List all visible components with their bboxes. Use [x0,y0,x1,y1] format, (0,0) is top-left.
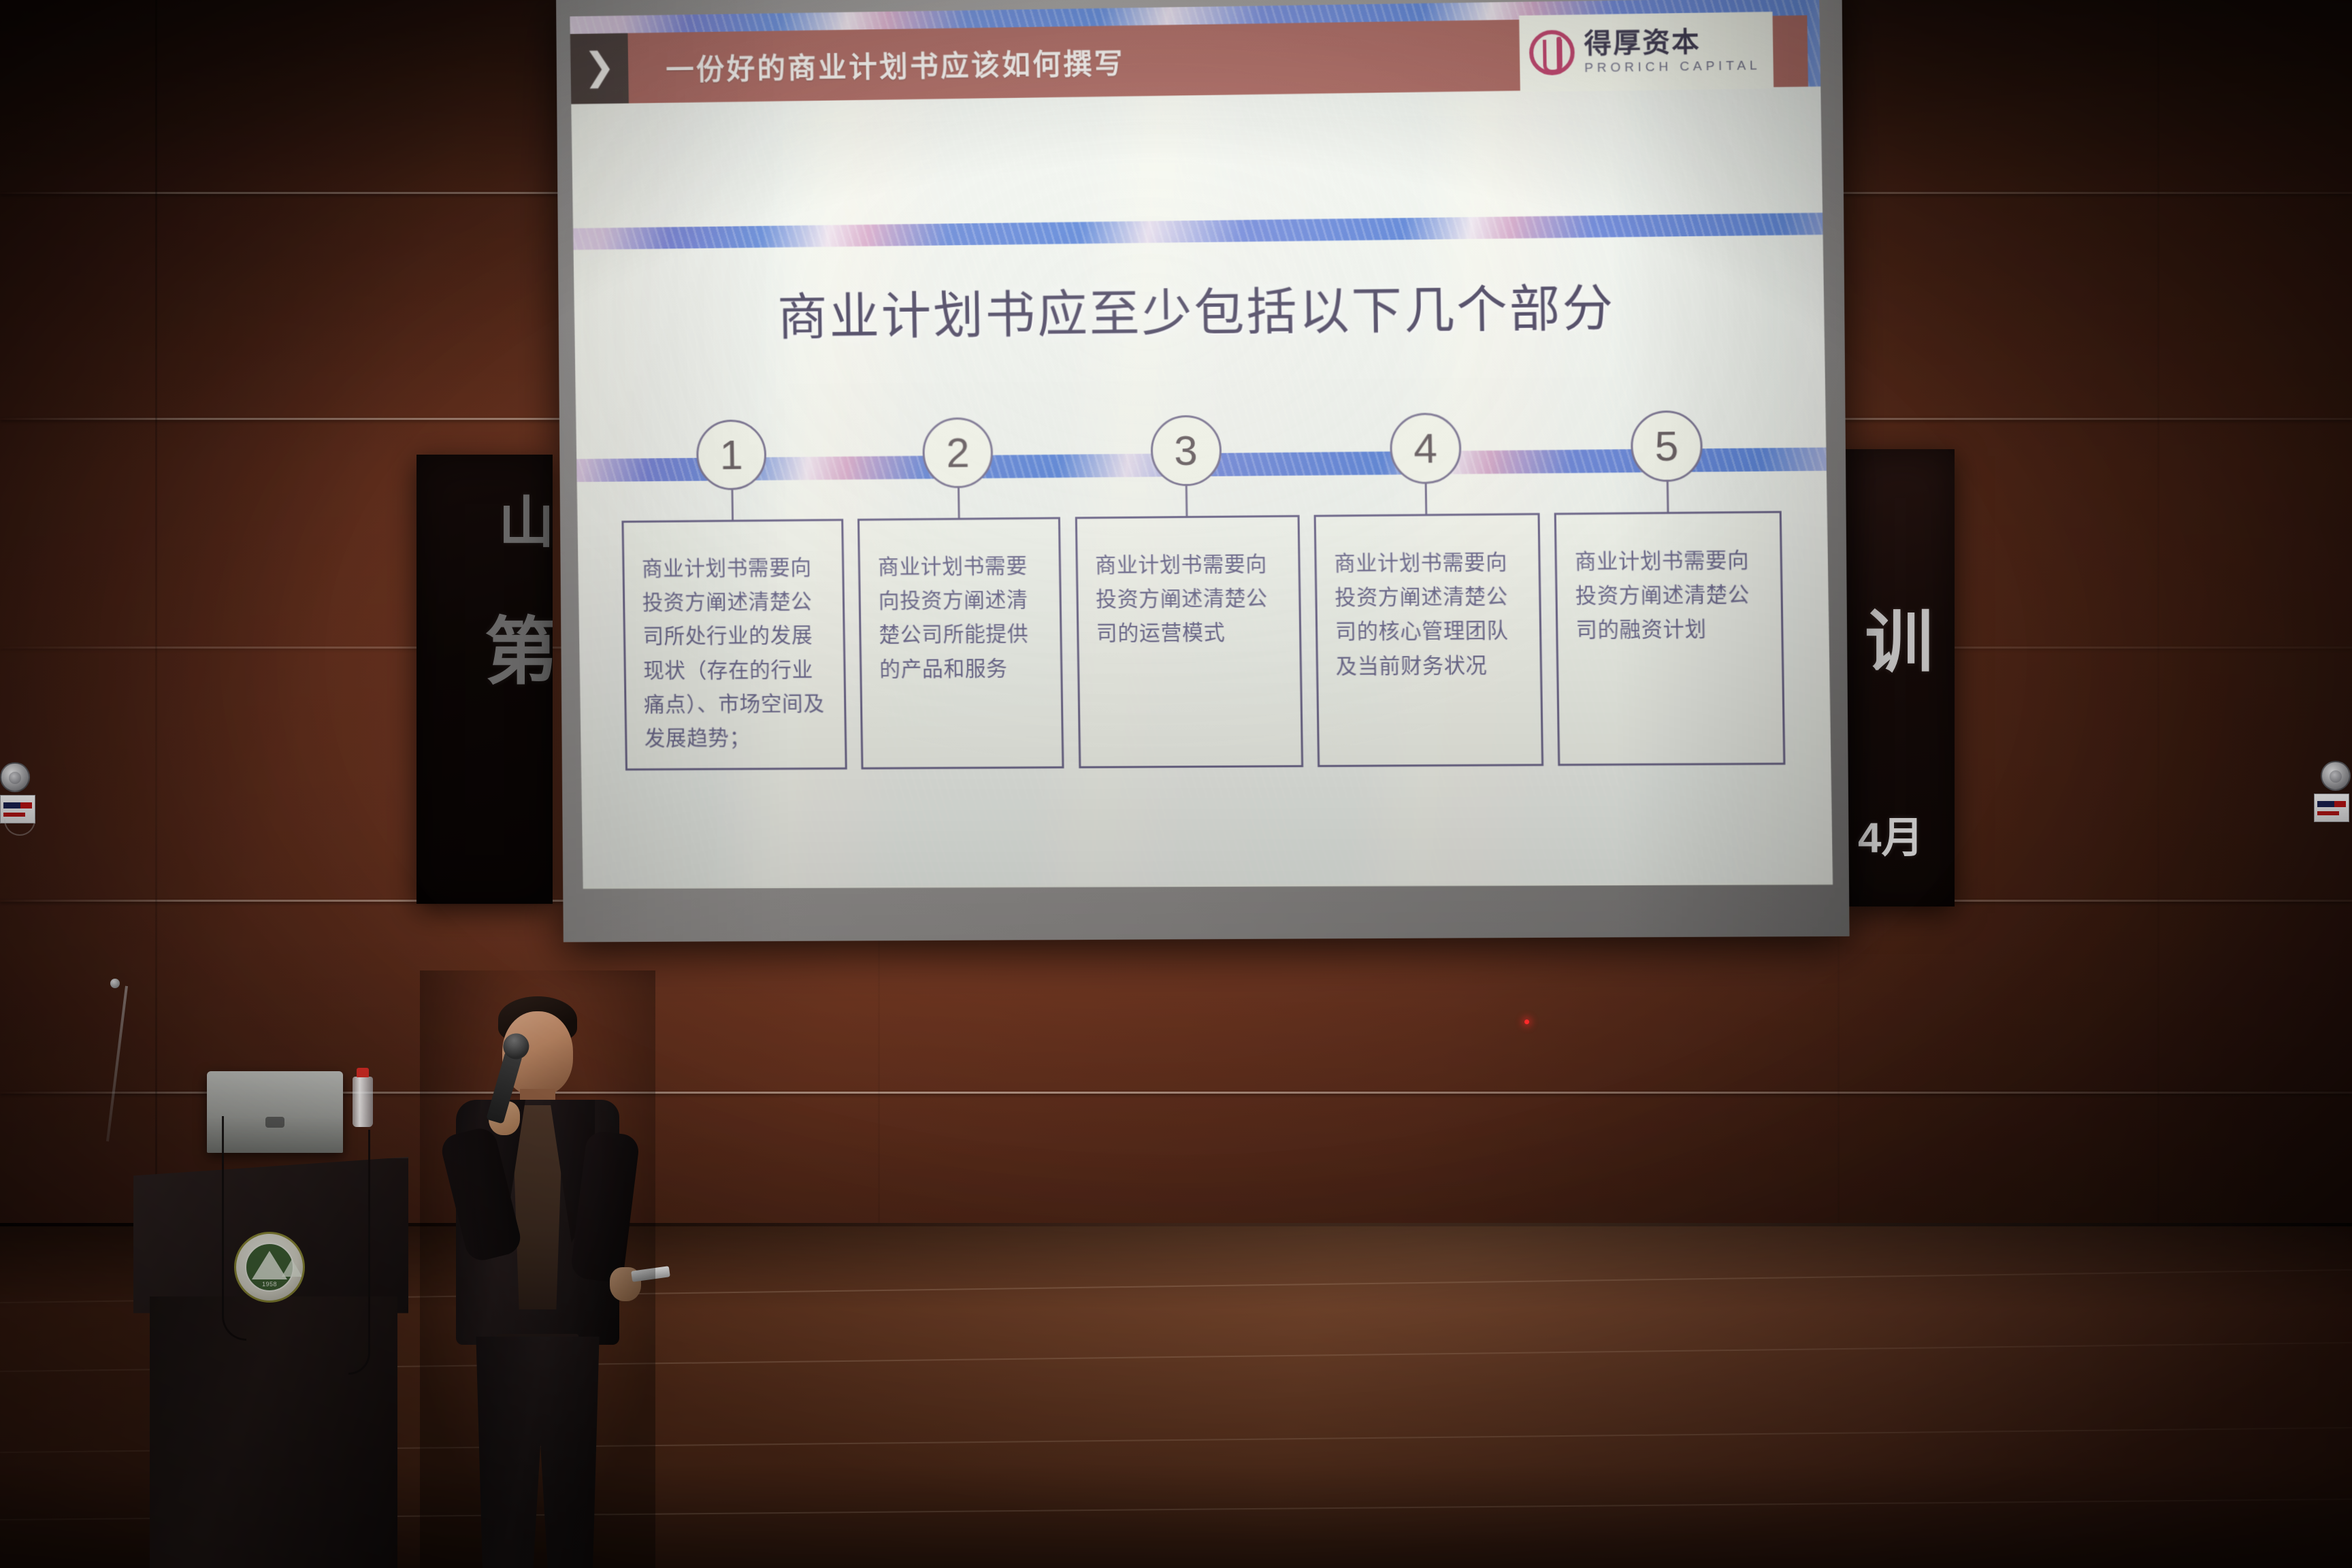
step-item-1: 1 商业计划书需要向投资方阐述清楚公司所处行业的发展现状（存在的行业痛点）、市场… [620,419,847,770]
banner-right: 训 4月 [1846,449,1955,906]
step-number-badge-2: 2 [922,417,994,489]
step-text-3: 商业计划书需要向投资方阐述清楚公司的运营模式 [1095,547,1281,651]
logo-name-cn: 得厚资本 [1584,27,1761,57]
slide-header-title: 一份好的商业计划书应该如何撰写 [666,40,1125,88]
chevron-right-icon: ❯ [570,33,629,104]
photo-scene: 山 第 训 4月 ❯ 一份好的商业计划书应该如何撰写 [0,0,2352,1568]
step-number-badge-1: 1 [696,419,766,490]
step-box-1: 商业计划书需要向投资方阐述清楚公司所处行业的发展现状（存在的行业痛点）、市场空间… [621,519,847,770]
alarm-panel-icon [2314,794,2349,822]
step-number-badge-5: 5 [1630,410,1703,483]
microphone-head-icon [110,979,120,988]
banner-right-date: 4月 [1858,803,1923,864]
step-item-2: 2 商业计划书需要向投资方阐述清楚公司所能提供的产品和服务 [856,416,1064,769]
step-item-5: 5 商业计划书需要向投资方阐述清楚公司的融资计划 [1552,410,1785,766]
banner-right-text: 训 [1857,606,1928,693]
water-bottle-icon [353,1077,373,1127]
step-connector [1425,484,1428,514]
step-text-2: 商业计划书需要向投资方阐述清楚公司所能提供的产品和服务 [877,549,1043,687]
presenter [429,994,647,1568]
step-connector [958,488,960,518]
step-number-badge-3: 3 [1149,415,1221,487]
prorich-circle-mark-icon [1529,30,1575,76]
banner-left-text-second: 第 [477,612,553,706]
wall-fixture-right [2314,761,2351,822]
banner-left-text: 山 [491,493,550,564]
slide-title: 商业计划书应至少包括以下几个部分 [574,265,1825,352]
step-connector [731,490,734,520]
step-box-4: 商业计划书需要向投资方阐述清楚公司的核心管理团队及当前财务状况 [1313,513,1543,767]
logo-name-en: PRORICH CAPITAL [1584,59,1761,74]
screen-surface: ❯ 一份好的商业计划书应该如何撰写 得厚资本 PRORICH CAPITAL [556,0,1849,942]
podium: 1958 [133,1157,408,1568]
alarm-bell-icon [2321,761,2351,791]
wall-fixture-left [0,762,35,823]
step-text-5: 商业计划书需要向投资方阐述清楚公司的融资计划 [1574,543,1763,648]
cable [348,1130,370,1375]
banner-left: 山 第 [416,455,553,904]
emblem-year: 1958 [259,1280,280,1288]
step-row: 1 商业计划书需要向投资方阐述清楚公司所处行业的发展现状（存在的行业痛点）、市场… [620,410,1785,771]
step-item-3: 3 商业计划书需要向投资方阐述清楚公司的运营模式 [1073,414,1303,768]
slide-canvas: ❯ 一份好的商业计划书应该如何撰写 得厚资本 PRORICH CAPITAL [570,0,1833,889]
step-connector [1666,482,1669,512]
laser-dot [1524,1019,1529,1024]
alarm-bell-icon [0,762,30,792]
cable [222,1116,246,1341]
projected-slide: ❯ 一份好的商业计划书应该如何撰写 得厚资本 PRORICH CAPITAL [570,0,1833,889]
presenter-legs [468,1337,608,1568]
projection-screen: ❯ 一份好的商业计划书应该如何撰写 得厚资本 PRORICH CAPITAL [556,0,1849,942]
step-connector [1186,486,1188,516]
step-number-badge-4: 4 [1389,412,1461,484]
presenter-shirt [513,1105,562,1309]
step-item-4: 4 商业计划书需要向投资方阐述清楚公司的核心管理团队及当前财务状况 [1312,412,1543,767]
step-box-5: 商业计划书需要向投资方阐述清楚公司的融资计划 [1554,511,1785,766]
step-text-4: 商业计划书需要向投资方阐述清楚公司的核心管理团队及当前财务状况 [1334,545,1522,683]
step-box-3: 商业计划书需要向投资方阐述清楚公司的运营模式 [1075,515,1303,768]
slide-overlay-band [571,86,1823,228]
step-text-1: 商业计划书需要向投资方阐述清楚公司所处行业的发展现状（存在的行业痛点）、市场空间… [642,551,828,755]
step-box-2: 商业计划书需要向投资方阐述清楚公司所能提供的产品和服务 [857,517,1064,770]
company-logo: 得厚资本 PRORICH CAPITAL [1519,12,1774,92]
